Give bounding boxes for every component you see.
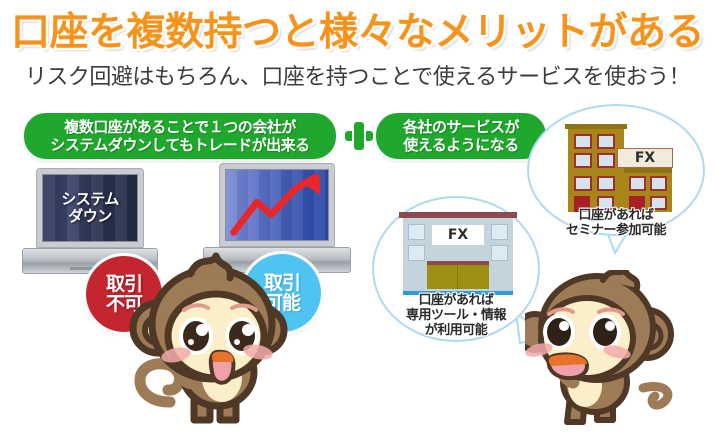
- window: [597, 176, 615, 191]
- building-lower-entrance: [427, 265, 489, 289]
- laptop-left-screen-label: システム ダウン: [43, 191, 137, 225]
- window: [574, 176, 592, 191]
- window: [574, 153, 592, 168]
- laptop-right-screen: [225, 169, 329, 241]
- plus-icon: [345, 122, 373, 150]
- window: [597, 134, 615, 149]
- window: [408, 224, 425, 240]
- benefit-banner-right-text: 各社のサービスが 使えるようになる: [403, 118, 519, 154]
- uptrend-arrow-icon: [226, 170, 328, 240]
- fx-sign-upper: FX: [617, 148, 673, 168]
- bubble-caption-upper: 口座があれば セミナー参加可能: [527, 208, 705, 238]
- mascot-monkey-left: [112, 252, 332, 435]
- page-subtitle: リスク回避はもちろん、口座を持つことで使えるサービスを使おう！: [0, 63, 715, 93]
- window: [491, 224, 508, 240]
- window: [650, 176, 667, 191]
- benefit-banner-right: 各社のサービスが 使えるようになる: [376, 113, 546, 159]
- bubble-caption-lower: 口座があれば 専用ツール・情報 が利用可能: [372, 293, 540, 338]
- mascot-monkey-right: [525, 270, 715, 435]
- window: [408, 245, 425, 261]
- fx-sign-lower: FX: [431, 224, 485, 246]
- entrance-divider: [457, 265, 458, 289]
- window: [574, 134, 592, 149]
- building-upper: FX: [561, 124, 681, 212]
- window: [491, 245, 508, 261]
- laptop-left-screen: システム ダウン: [42, 174, 138, 242]
- laptop-right-lid: [219, 163, 335, 247]
- benefit-banner-left-text: 複数口座があることで１つの会社が システムダウンしてもトレードが出来る: [50, 118, 309, 154]
- infographic-canvas: 口座を複数持つと様々なメリットがある リスク回避はもちろん、口座を持つことで使え…: [0, 0, 715, 435]
- benefit-banner-left: 複数口座があることで１つの会社が システムダウンしてもトレードが出来る: [24, 113, 336, 159]
- building-upper-right-roof: [624, 168, 672, 173]
- building-lower: FX: [399, 212, 517, 297]
- page-title: 口座を複数持つと様々なメリットがある: [0, 10, 715, 56]
- laptop-left-lid: システム ダウン: [36, 168, 144, 248]
- window: [597, 153, 615, 168]
- window: [629, 176, 646, 191]
